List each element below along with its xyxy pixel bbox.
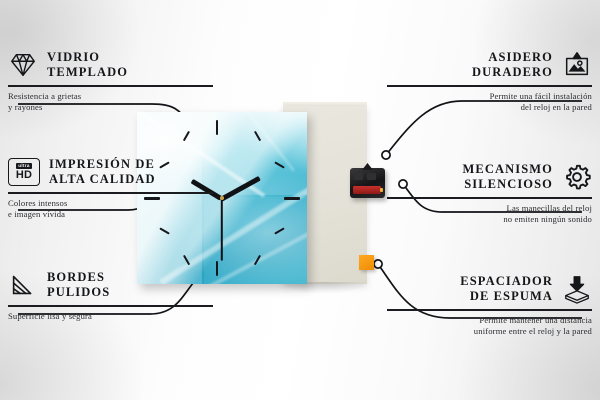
divider	[8, 305, 213, 307]
arrow-onto-layers-icon	[562, 274, 592, 304]
feature-mecanismo-silencioso: MECANISMO SILENCIOSO Las manecillas del …	[387, 160, 592, 225]
feature-title: VIDRIO TEMPLADO	[47, 50, 128, 80]
feature-title: ESPACIADOR DE ESPUMA	[460, 274, 553, 304]
feature-bordes-pulidos: BORDES PULIDOS Superficie lisa y segura	[8, 268, 213, 322]
feature-impresion-alta-calidad: ultra HD IMPRESIÓN DE ALTA CALIDAD Color…	[8, 155, 213, 220]
feature-description: Las manecillas del reloj no emiten ningú…	[387, 203, 592, 226]
feature-title: ASIDERO DURADERO	[472, 50, 553, 80]
hanging-frame-icon	[562, 50, 592, 80]
gear-icon	[562, 162, 592, 192]
feature-vidrio-templado: VIDRIO TEMPLADO Resistencia a grietas y …	[8, 48, 213, 113]
infographic-canvas: VIDRIO TEMPLADO Resistencia a grietas y …	[0, 0, 600, 400]
feature-title: IMPRESIÓN DE ALTA CALIDAD	[49, 157, 156, 187]
polished-edges-icon	[8, 270, 38, 300]
divider	[387, 85, 592, 87]
connector-node-asidero	[382, 151, 390, 159]
feature-title: MECANISMO SILENCIOSO	[463, 162, 553, 192]
clock-mechanism	[350, 168, 385, 198]
divider	[387, 309, 592, 311]
feature-asidero-duradero: ASIDERO DURADERO Permite una fácil insta…	[387, 48, 592, 113]
clock-center-cap	[220, 196, 224, 200]
connector-node-espaciador	[374, 260, 382, 268]
feature-title: BORDES PULIDOS	[47, 270, 110, 300]
diamond-icon	[8, 50, 38, 80]
ultra-hd-icon: ultra HD	[8, 158, 40, 186]
divider	[8, 85, 213, 87]
second-hand	[221, 198, 223, 260]
feature-description: Permite una fácil instalación del reloj …	[387, 91, 592, 114]
divider	[387, 197, 592, 199]
feature-espaciador-de-espuma: ESPACIADOR DE ESPUMA Permite mantener un…	[387, 272, 592, 337]
battery	[353, 186, 381, 194]
feature-description: Resistencia a grietas y rayones	[8, 91, 213, 114]
divider	[8, 192, 213, 194]
foam-spacer	[359, 255, 374, 270]
feature-description: Permite mantener una distancia uniforme …	[387, 315, 592, 338]
feature-description: Superficie lisa y segura	[8, 311, 213, 322]
feature-description: Colores intensos e imagen vívida	[8, 198, 213, 221]
